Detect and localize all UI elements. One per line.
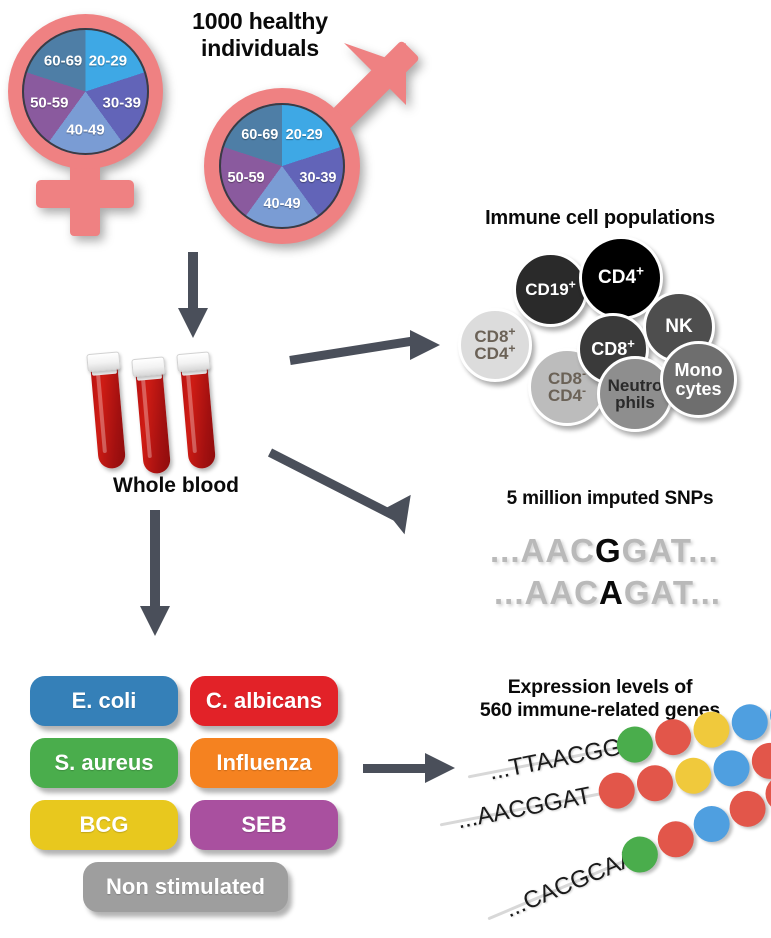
stimulus-bcg[interactable]: BCG — [30, 800, 178, 850]
expression-bead — [634, 762, 676, 804]
arrow-shaft — [150, 510, 160, 610]
stimulus-c-albicans[interactable]: C. albicans — [190, 676, 338, 726]
immune-cell-label: CD4+ — [598, 268, 644, 287]
arrow-shaft — [363, 764, 429, 773]
immune-cell-label: Monocytes — [675, 361, 723, 398]
expression-bead — [672, 755, 714, 797]
stimulus-influenza[interactable]: Influenza — [190, 738, 338, 788]
expression-bead — [729, 701, 771, 743]
immune-cell-label: CD8+ — [591, 340, 635, 358]
immune-cell-label: CD8-CD4- — [548, 370, 586, 405]
immune-cell-monocytes: Monocytes — [660, 341, 737, 418]
stimulus-s-aureus[interactable]: S. aureus — [30, 738, 178, 788]
stimulus-e-coli[interactable]: E. coli — [30, 676, 178, 726]
stimulus-label: Non stimulated — [106, 874, 265, 900]
arrow-shaft — [268, 448, 404, 523]
arrow-head — [140, 606, 170, 636]
immune-cell-label: NK — [665, 317, 692, 336]
snp-suffix: GAT... — [622, 532, 719, 569]
snp-sequence-row: ...AACGGAT... — [490, 532, 719, 570]
expression-bead — [690, 709, 732, 751]
snp-sequence-block: ...AACGGAT... ...AACAGAT... — [490, 532, 740, 622]
snp-prefix: ...AAC — [494, 574, 599, 611]
expression-bead — [724, 785, 771, 832]
expression-bead — [688, 800, 735, 847]
expression-bead — [748, 740, 771, 782]
stimulus-label: SEB — [241, 812, 286, 838]
stimulus-non-stimulated[interactable]: Non stimulated — [83, 862, 288, 912]
immune-cell-cluster: CD8+CD4+CD19+CD4+CD8-CD4-CD8+NKNeutrophi… — [0, 0, 771, 450]
strand-sequence-text: ...CACGCAA — [501, 844, 640, 924]
snp-variant-allele: A — [599, 574, 624, 611]
stimulation-conditions: E. coliC. albicansS. aureusInfluenzaBCGS… — [30, 676, 360, 896]
stimulus-label: BCG — [80, 812, 129, 838]
arrow-head — [384, 495, 426, 537]
stimulus-label: Influenza — [216, 750, 311, 776]
immune-cell-label: CD19+ — [525, 281, 576, 298]
expression-bead — [710, 747, 752, 789]
stimulus-label: E. coli — [72, 688, 137, 714]
immune-cell-label: Neutrophils — [608, 377, 663, 412]
section-title-snps: 5 million imputed SNPs — [460, 488, 760, 510]
immune-cell-cd19: CD19+ — [513, 252, 588, 327]
immune-cell-label: CD8+CD4+ — [474, 328, 515, 363]
label-whole-blood: Whole blood — [86, 474, 266, 498]
snp-variant-allele: G — [595, 532, 622, 569]
snp-sequence-row: ...AACAGAT... — [494, 574, 721, 612]
expression-bead — [652, 816, 699, 863]
stimulus-seb[interactable]: SEB — [190, 800, 338, 850]
gene-expression-strands: ...TTAACGG...AACGGAT...CACGCAA — [440, 700, 771, 920]
expression-bead — [652, 716, 694, 758]
immune-cell-cd8-cd4: CD8+CD4+ — [458, 308, 532, 382]
arrow-to-snps — [270, 440, 445, 550]
expression-bead — [767, 694, 771, 736]
snp-suffix: GAT... — [624, 574, 721, 611]
stimulus-label: S. aureus — [54, 750, 153, 776]
expression-bead — [595, 770, 637, 812]
arrow-down-to-stimuli — [138, 510, 172, 650]
snp-prefix: ...AAC — [490, 532, 595, 569]
stimulus-label: C. albicans — [206, 688, 322, 714]
